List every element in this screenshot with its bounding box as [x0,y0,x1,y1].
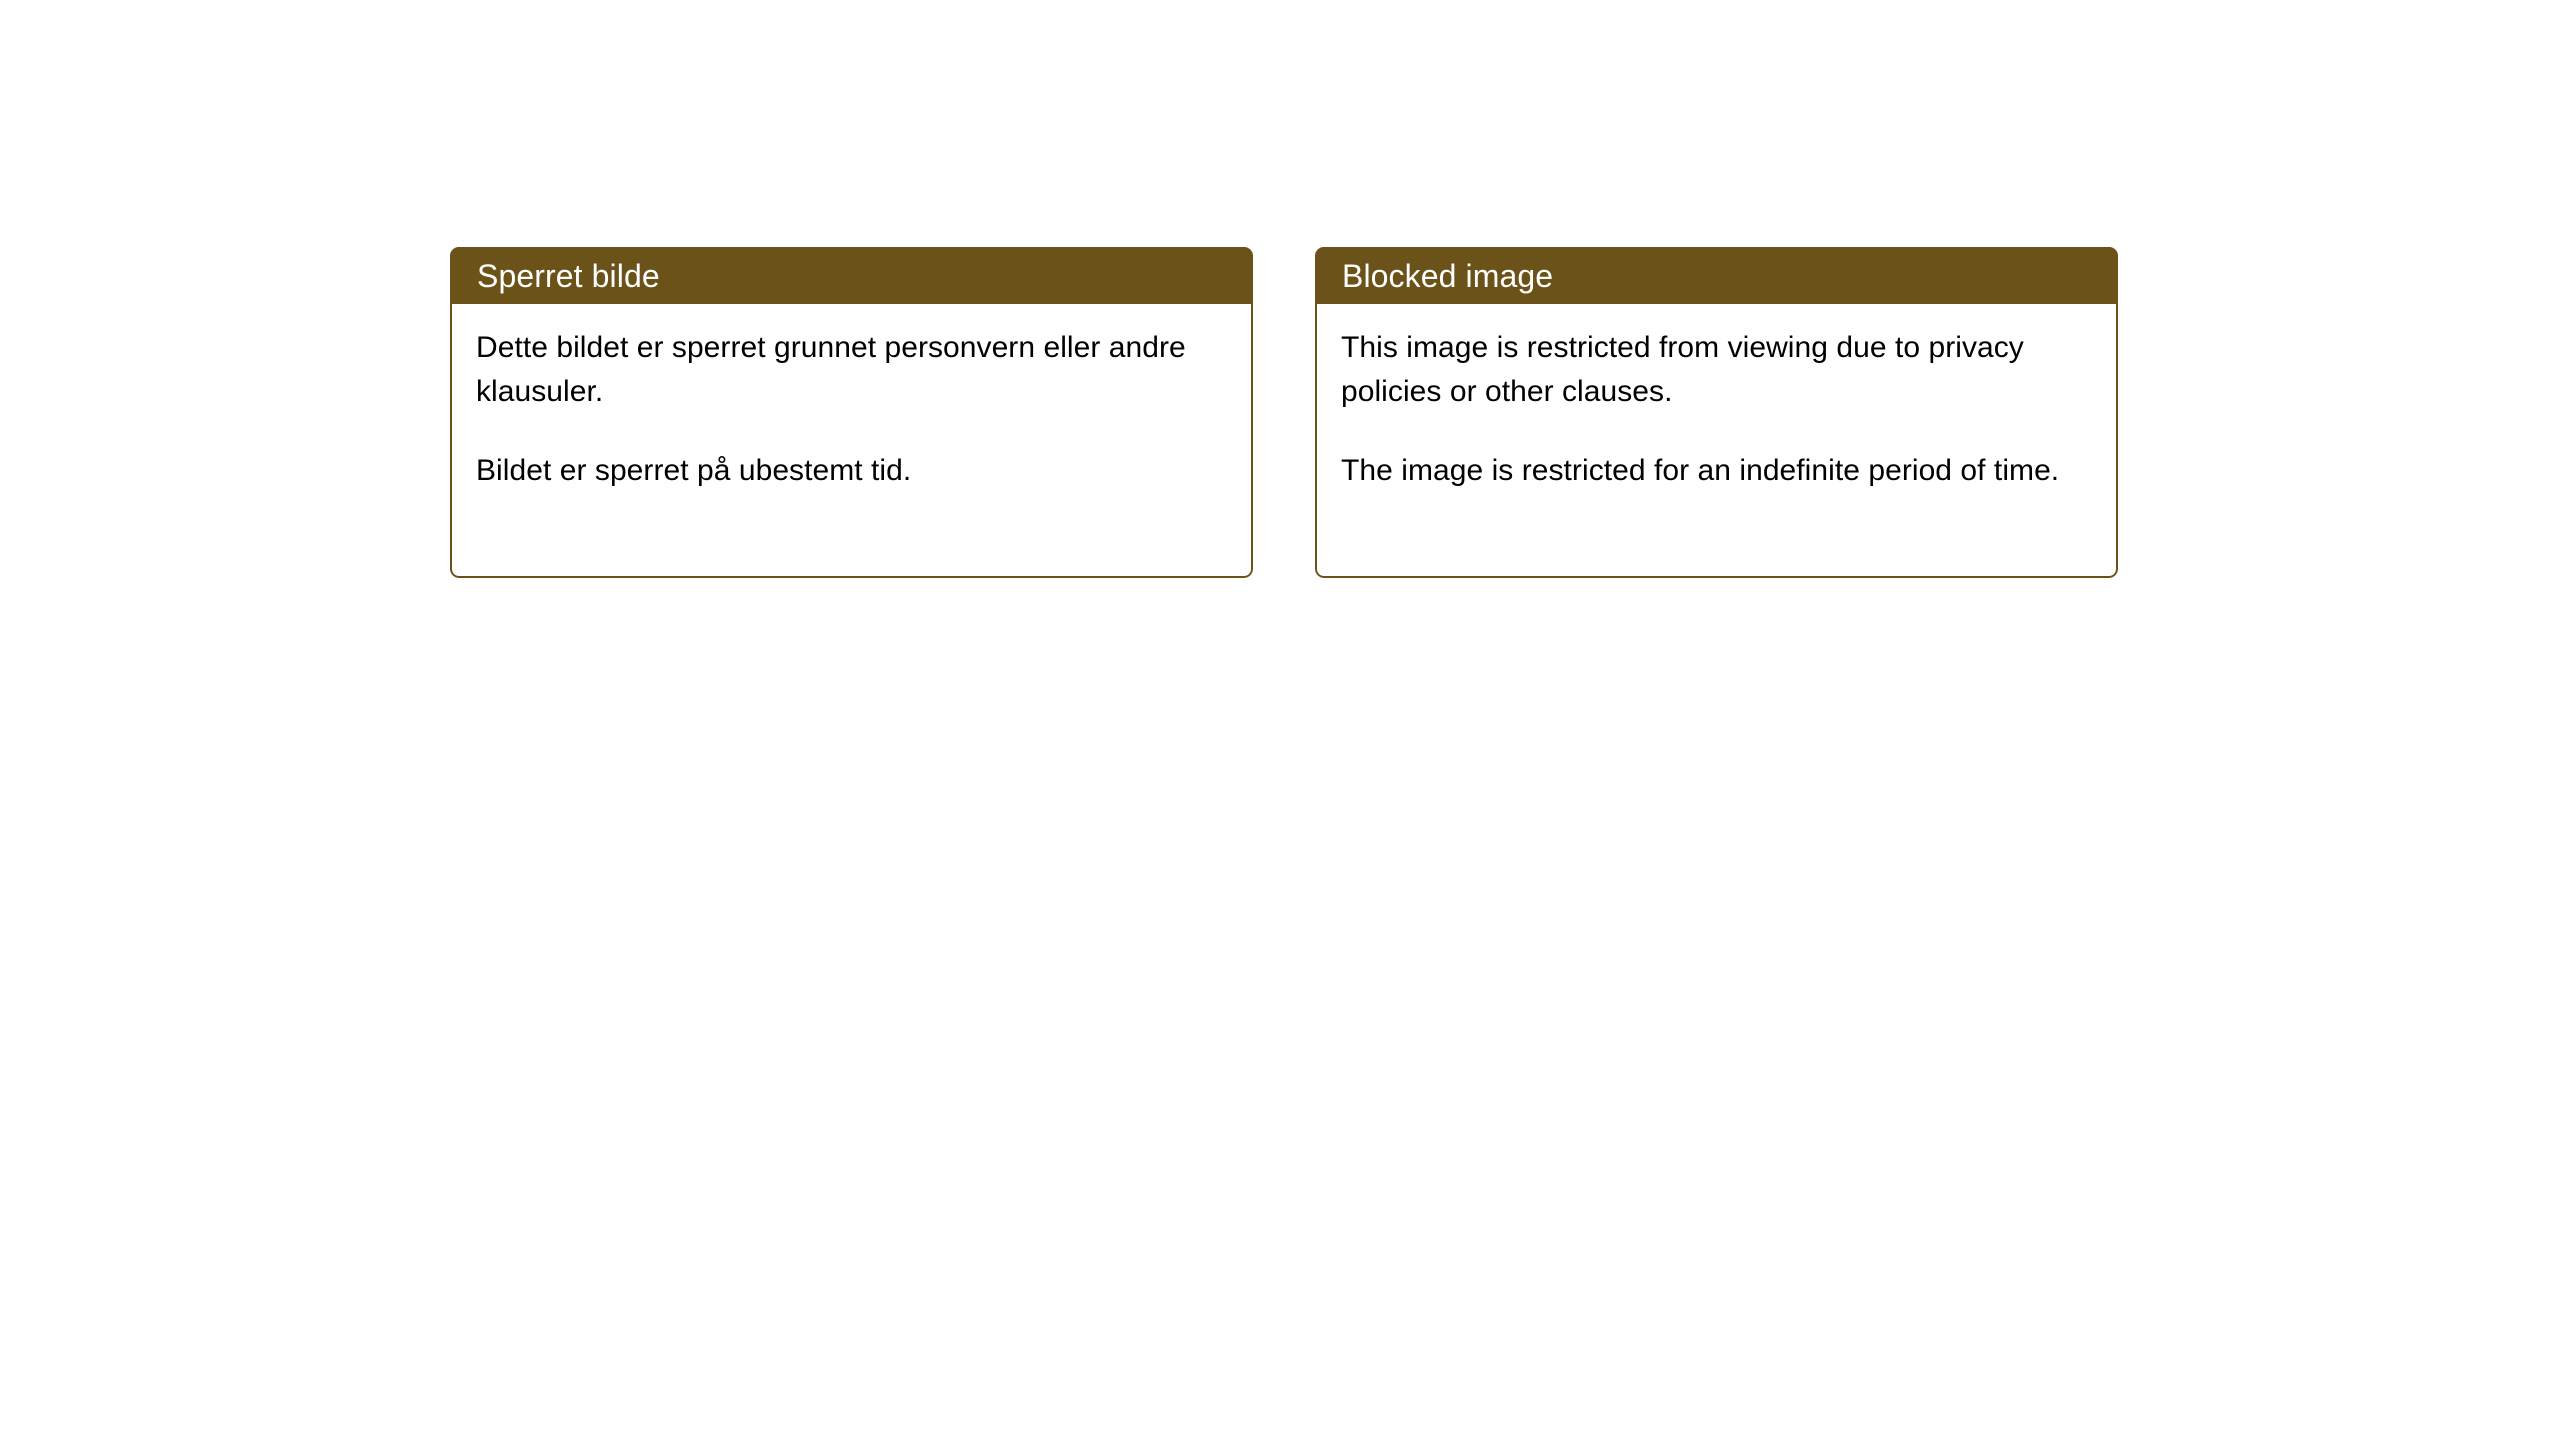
card-header-english: Blocked image [1315,247,2118,304]
card-title-english: Blocked image [1342,258,1553,294]
card-paragraph-reason-norwegian: Dette bildet er sperret grunnet personve… [476,326,1223,414]
blocked-image-notice-area: Sperret bilde Dette bildet er sperret gr… [450,247,2118,578]
blocked-image-card-english: Blocked image This image is restricted f… [1315,247,2118,578]
card-paragraph-reason-english: This image is restricted from viewing du… [1341,326,2088,414]
card-paragraph-duration-norwegian: Bildet er sperret på ubestemt tid. [476,449,1223,493]
card-header-norwegian: Sperret bilde [450,247,1253,304]
card-body-norwegian: Dette bildet er sperret grunnet personve… [450,304,1253,578]
card-paragraph-duration-english: The image is restricted for an indefinit… [1341,449,2088,493]
blocked-image-card-norwegian: Sperret bilde Dette bildet er sperret gr… [450,247,1253,578]
card-body-english: This image is restricted from viewing du… [1315,304,2118,578]
card-title-norwegian: Sperret bilde [477,258,660,294]
